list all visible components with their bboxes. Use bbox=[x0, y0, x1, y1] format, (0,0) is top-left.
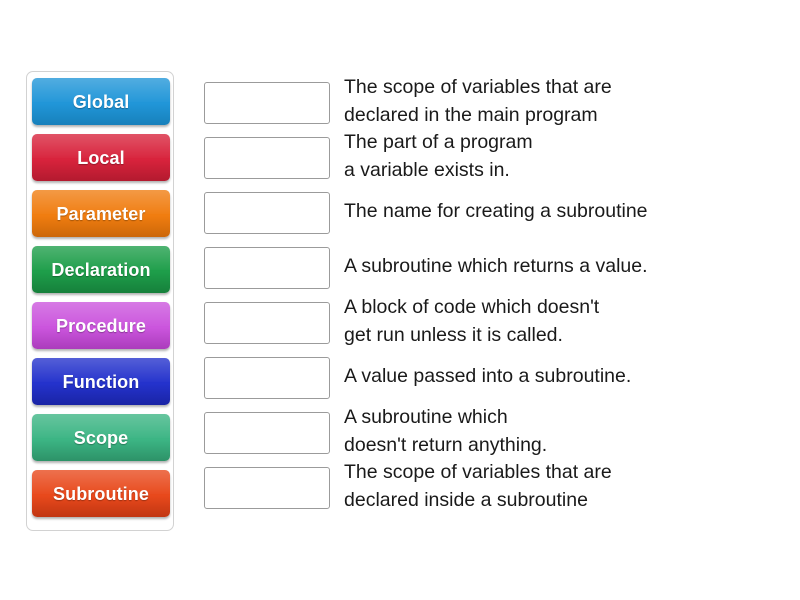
definition-7: A subroutine which doesn't return anythi… bbox=[344, 403, 784, 458]
match-up-activity: Global Local Parameter Declaration Proce… bbox=[0, 0, 800, 600]
definition-6: A value passed into a subroutine. bbox=[344, 348, 784, 403]
drop-slots-column bbox=[204, 82, 330, 509]
tile-function[interactable]: Function bbox=[32, 358, 170, 405]
tile-declaration[interactable]: Declaration bbox=[32, 246, 170, 293]
definitions-column: The scope of variables that are declared… bbox=[344, 73, 784, 513]
definition-3: The name for creating a subroutine bbox=[344, 183, 784, 238]
tile-label: Local bbox=[77, 149, 125, 167]
drop-slot-8[interactable] bbox=[204, 467, 330, 509]
tile-label: Declaration bbox=[51, 261, 150, 279]
tile-label: Procedure bbox=[56, 317, 146, 335]
tile-subroutine[interactable]: Subroutine bbox=[32, 470, 170, 517]
tile-label: Parameter bbox=[57, 205, 146, 223]
tile-global[interactable]: Global bbox=[32, 78, 170, 125]
drop-slot-6[interactable] bbox=[204, 357, 330, 399]
drop-slot-4[interactable] bbox=[204, 247, 330, 289]
definition-2: The part of a program a variable exists … bbox=[344, 128, 784, 183]
drop-slot-3[interactable] bbox=[204, 192, 330, 234]
tile-parameter[interactable]: Parameter bbox=[32, 190, 170, 237]
definition-5: A block of code which doesn't get run un… bbox=[344, 293, 784, 348]
tile-scope[interactable]: Scope bbox=[32, 414, 170, 461]
tiles-panel: Global Local Parameter Declaration Proce… bbox=[26, 71, 174, 531]
tile-label: Subroutine bbox=[53, 485, 149, 503]
tile-local[interactable]: Local bbox=[32, 134, 170, 181]
drop-slot-2[interactable] bbox=[204, 137, 330, 179]
tile-label: Function bbox=[63, 373, 140, 391]
drop-slot-5[interactable] bbox=[204, 302, 330, 344]
tile-label: Scope bbox=[74, 429, 129, 447]
drop-slot-1[interactable] bbox=[204, 82, 330, 124]
definition-1: The scope of variables that are declared… bbox=[344, 73, 784, 128]
drop-slot-7[interactable] bbox=[204, 412, 330, 454]
tile-label: Global bbox=[73, 93, 130, 111]
definition-8: The scope of variables that are declared… bbox=[344, 458, 784, 513]
tile-procedure[interactable]: Procedure bbox=[32, 302, 170, 349]
definition-4: A subroutine which returns a value. bbox=[344, 238, 784, 293]
